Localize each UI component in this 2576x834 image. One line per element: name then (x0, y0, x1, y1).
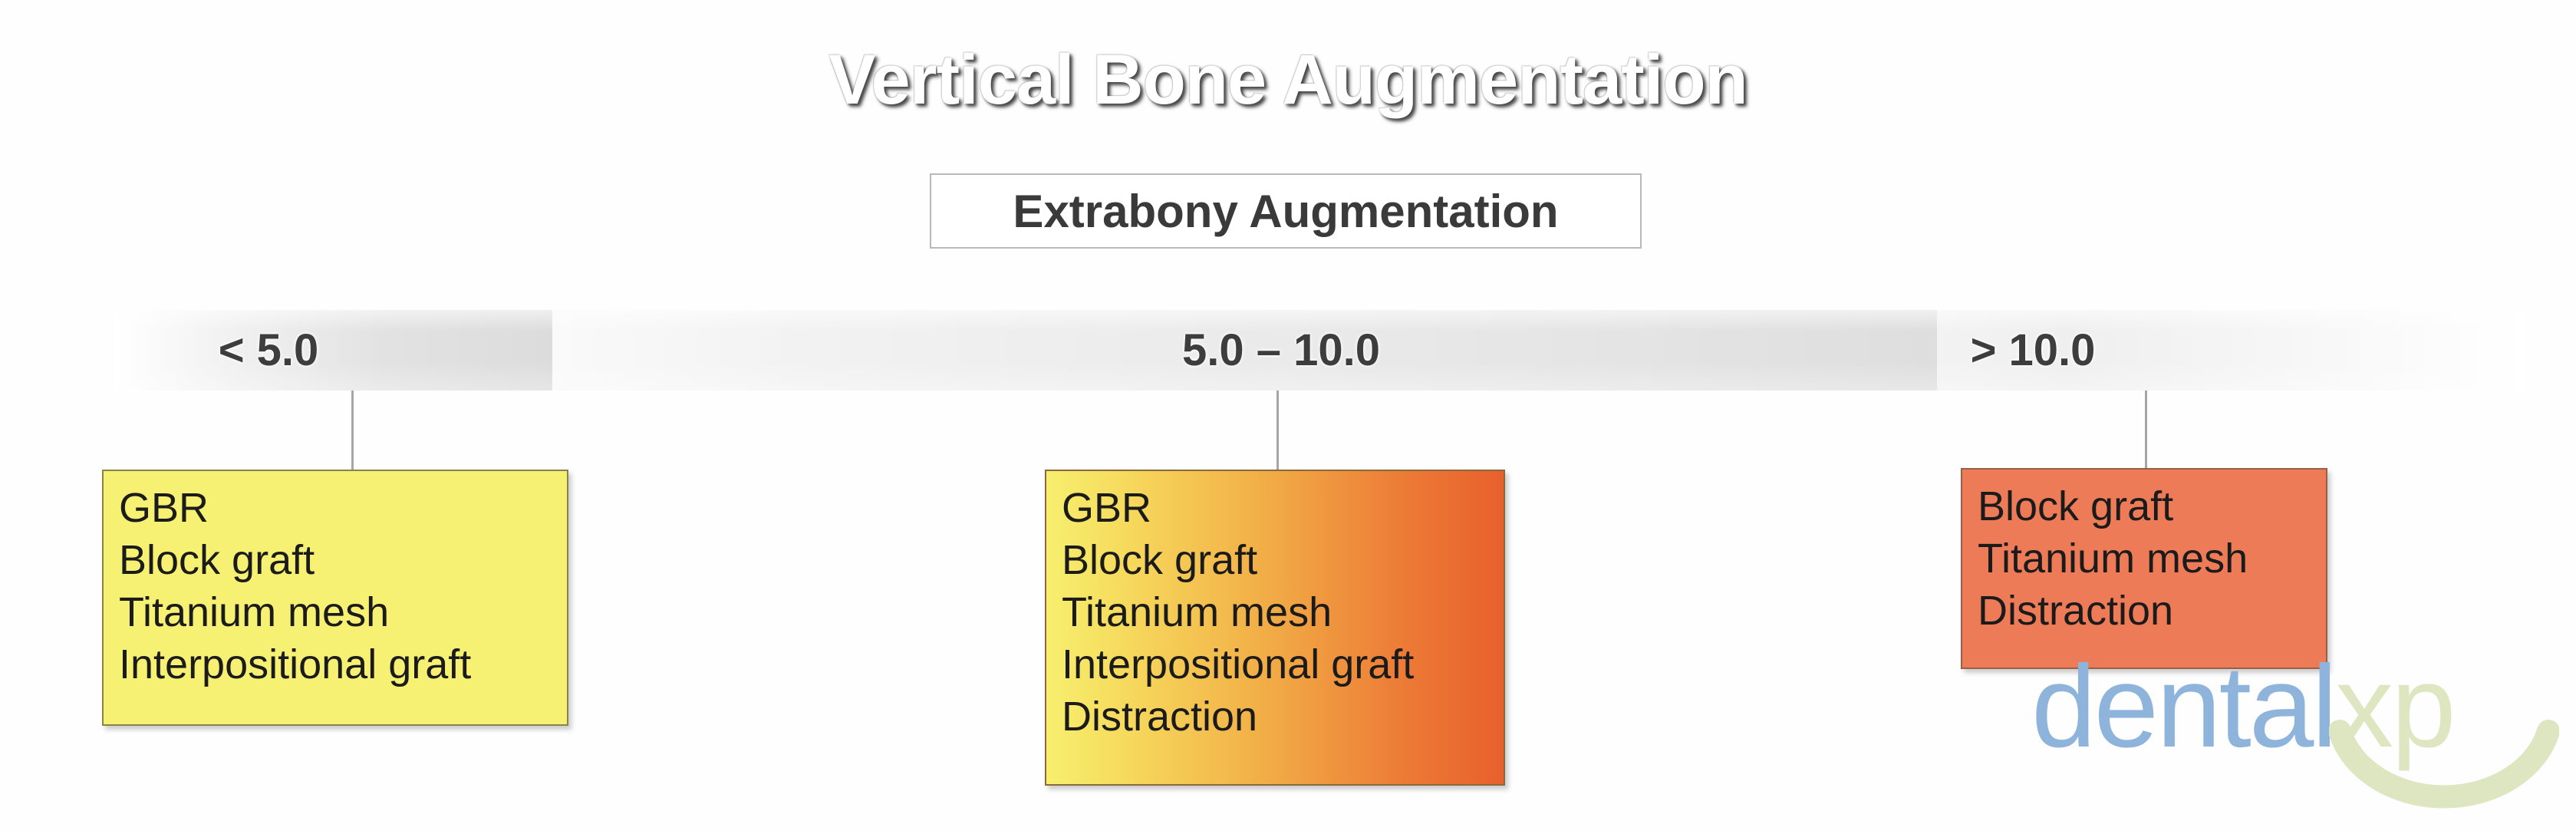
connector-line-high (2145, 391, 2147, 469)
page-title: Vertical Bone Augmentation (0, 40, 2576, 120)
scale-label-high: > 10.0 (1787, 310, 2278, 391)
option-item: Titanium mesh (1978, 532, 2312, 585)
option-item: Interpositional graft (119, 638, 553, 691)
connector-line-mid (1276, 391, 1279, 470)
option-item: Distraction (1062, 691, 1490, 743)
slide-canvas: Vertical Bone Augmentation Extrabony Aug… (0, 0, 2576, 833)
dentalxp-logo-watermark: dentalxp (2031, 648, 2568, 825)
option-item: GBR (119, 482, 553, 534)
option-box-low: GBR Block graft Titanium mesh Interposit… (102, 470, 568, 726)
smile-arc-icon (2329, 719, 2559, 834)
option-item: Titanium mesh (1062, 586, 1490, 638)
option-item: Block graft (1062, 534, 1490, 586)
option-item: Titanium mesh (119, 586, 553, 638)
option-item: Block graft (1978, 480, 2312, 532)
option-box-high: Block graft Titanium mesh Distraction (1961, 468, 2327, 669)
scale-label-mid: 5.0 – 10.0 (1028, 310, 1534, 391)
option-item: GBR (1062, 482, 1490, 534)
scale-label-low: < 5.0 (100, 310, 437, 391)
subtitle-box: Extrabony Augmentation (930, 173, 1642, 249)
option-item: Interpositional graft (1062, 638, 1490, 691)
connector-line-low (351, 391, 354, 470)
option-box-mid: GBR Block graft Titanium mesh Interposit… (1045, 470, 1505, 786)
subtitle-label: Extrabony Augmentation (1013, 185, 1558, 238)
dentalxp-wordmark-dental: dental (2031, 641, 2335, 772)
option-item: Block graft (119, 534, 553, 586)
option-item: Distraction (1978, 585, 2312, 637)
